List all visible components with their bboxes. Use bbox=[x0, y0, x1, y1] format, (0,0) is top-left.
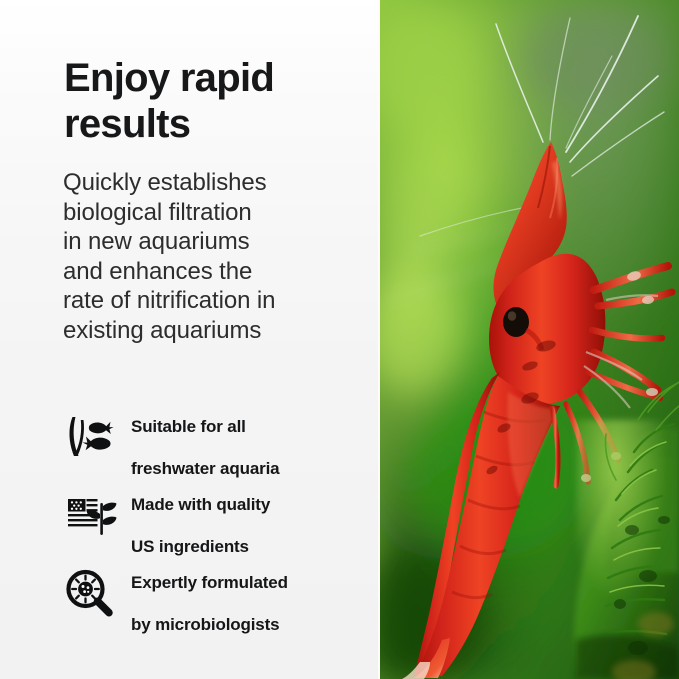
feature-label-line-1: Suitable for all bbox=[131, 417, 246, 436]
feature-label-line-2: by microbiologists bbox=[131, 615, 279, 634]
feature-label-line-1: Expertly formulated bbox=[131, 573, 288, 592]
description-line-1: Quickly establishes bbox=[63, 168, 368, 198]
feature-item-microbiologists: Expertly formulated by microbiologists bbox=[0, 554, 380, 632]
page-title: Enjoy rapid results bbox=[64, 55, 364, 147]
magnifier-microbe-icon bbox=[63, 566, 119, 620]
description-line-2: biological filtration bbox=[63, 198, 368, 228]
description-text: Quickly establishes biological filtratio… bbox=[63, 168, 368, 345]
feature-item-us-ingredients: Made with quality US ingredients bbox=[0, 476, 380, 554]
panel-divider bbox=[378, 0, 380, 679]
us-flag-plant-icon bbox=[63, 488, 119, 542]
left-text-panel: Enjoy rapid results Quickly establishes … bbox=[0, 0, 380, 679]
shrimp-photo-illustration bbox=[380, 0, 679, 679]
seaweed-fish-icon bbox=[63, 410, 119, 464]
product-feature-card: Enjoy rapid results Quickly establishes … bbox=[0, 0, 679, 679]
product-photo bbox=[380, 0, 679, 679]
feature-label-line-1: Made with quality bbox=[131, 495, 270, 514]
headline-line-1: Enjoy rapid bbox=[64, 55, 364, 101]
feature-label: Suitable for all freshwater aquaria bbox=[131, 395, 279, 479]
feature-item-freshwater: Suitable for all freshwater aquaria bbox=[0, 398, 380, 476]
headline-line-2: results bbox=[64, 101, 364, 147]
description-line-6: existing aquariums bbox=[63, 316, 368, 346]
feature-label: Expertly formulated by microbiologists bbox=[131, 551, 288, 635]
description-line-4: and enhances the bbox=[63, 257, 368, 287]
feature-label: Made with quality US ingredients bbox=[131, 473, 270, 557]
feature-list: Suitable for all freshwater aquaria bbox=[0, 398, 380, 632]
description-line-3: in new aquariums bbox=[63, 227, 368, 257]
description-line-5: rate of nitrification in bbox=[63, 286, 368, 316]
